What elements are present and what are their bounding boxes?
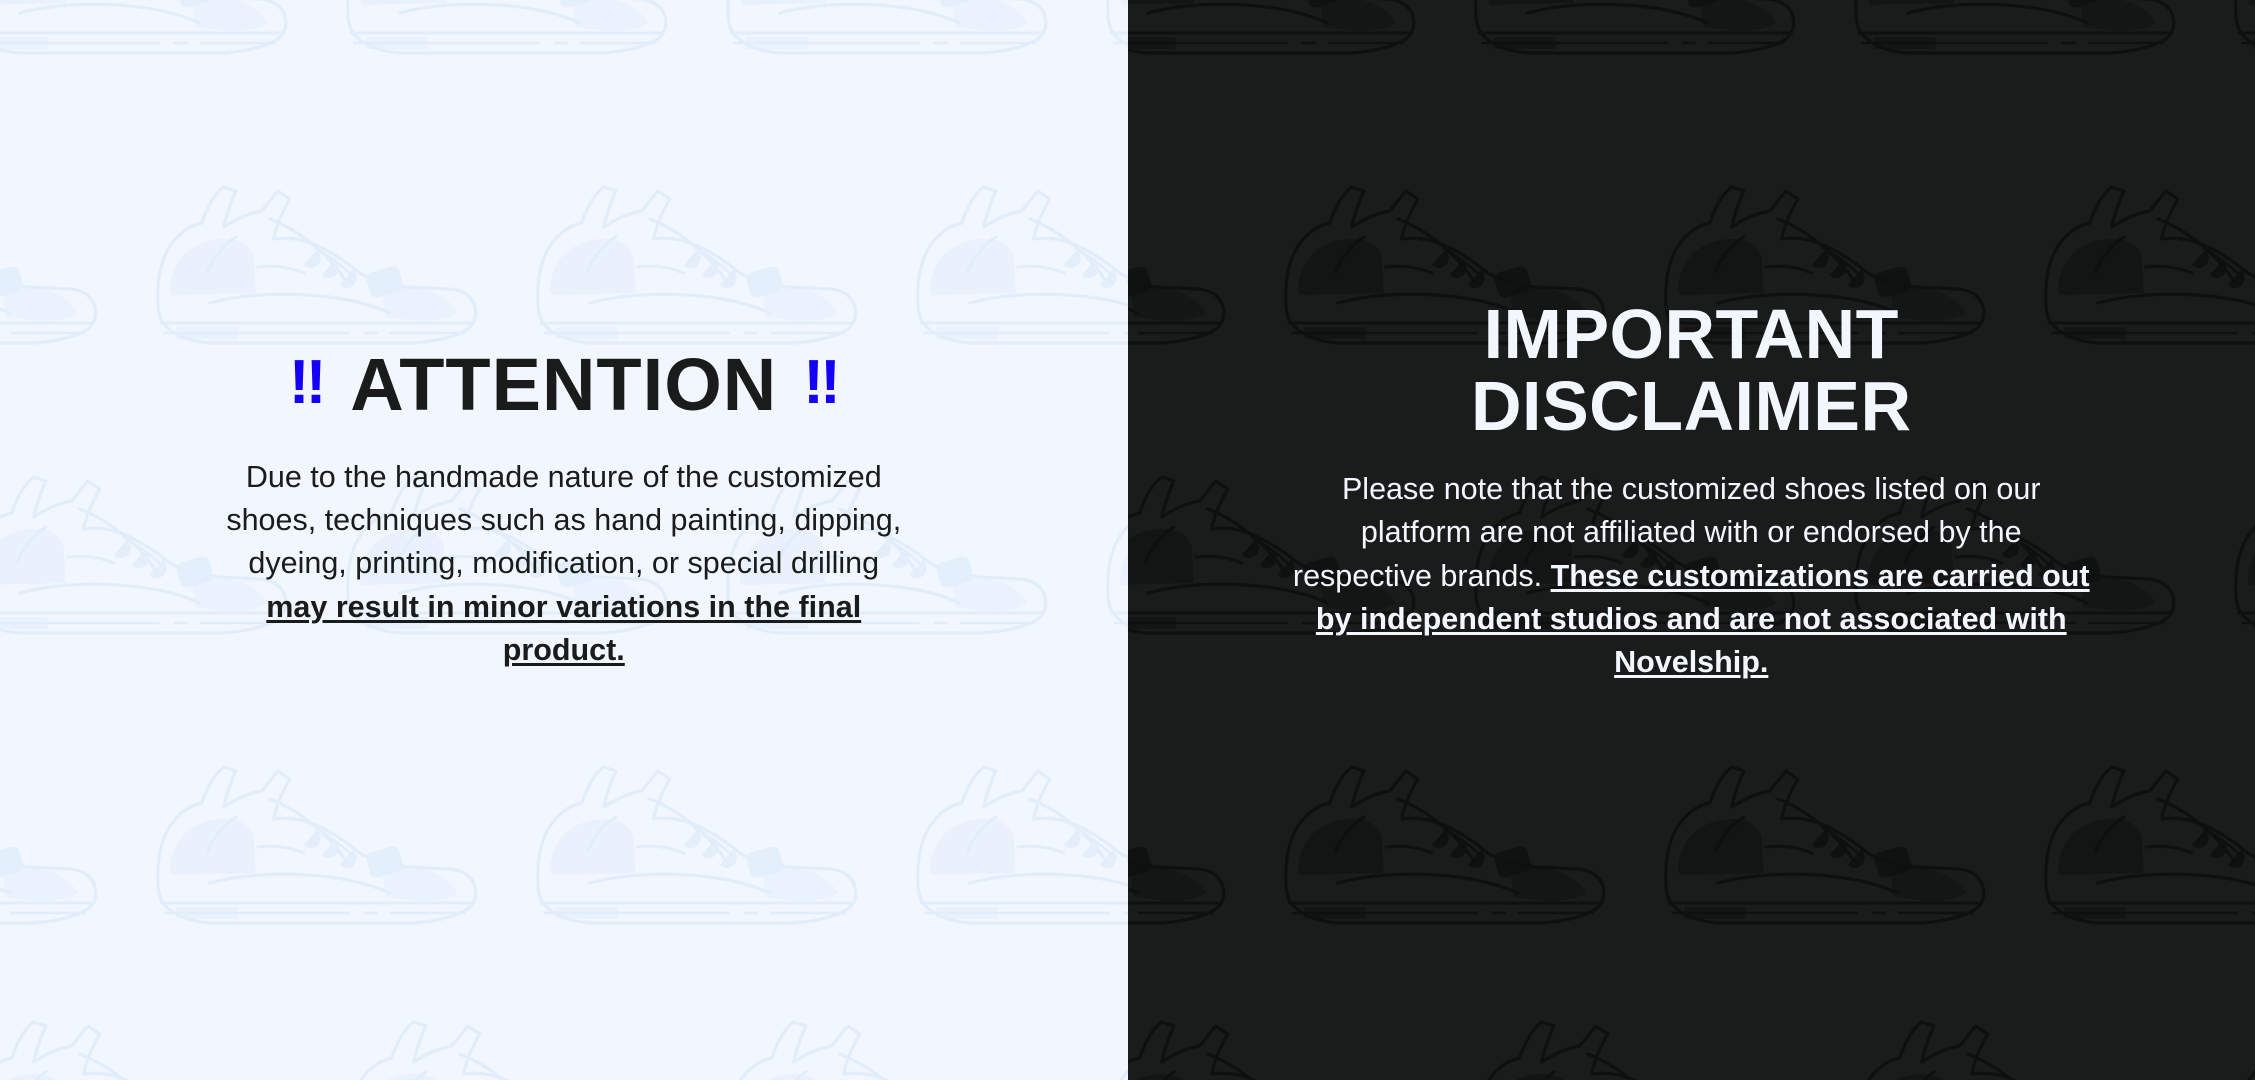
attention-panel: ‼ ATTENTION ‼ Due to the handmade nature… <box>0 0 1128 1080</box>
attention-body-emphasis: may result in minor variations in the fi… <box>266 590 861 667</box>
disclaimer-content: IMPORTANT DISCLAIMER Please note that th… <box>1128 299 2255 684</box>
attention-body-normal: Due to the handmade nature of the custom… <box>226 460 901 581</box>
double-exclamation-left-icon: ‼ <box>289 352 324 414</box>
attention-heading: ‼ ATTENTION ‼ <box>60 348 1068 422</box>
disclaimer-heading: IMPORTANT DISCLAIMER <box>1371 299 2011 442</box>
disclaimer-heading-line2: DISCLAIMER <box>1471 367 1912 445</box>
attention-content: ‼ ATTENTION ‼ Due to the handmade nature… <box>0 348 1128 672</box>
disclaimer-banner: ‼ ATTENTION ‼ Due to the handmade nature… <box>0 0 2255 1080</box>
double-exclamation-right-icon: ‼ <box>803 352 838 414</box>
disclaimer-panel: IMPORTANT DISCLAIMER Please note that th… <box>1128 0 2255 1080</box>
disclaimer-heading-line1: IMPORTANT <box>1484 295 1899 373</box>
attention-heading-text: ATTENTION <box>350 348 777 422</box>
attention-body: Due to the handmade nature of the custom… <box>214 456 914 672</box>
disclaimer-body: Please note that the customized shoes li… <box>1291 468 2091 684</box>
